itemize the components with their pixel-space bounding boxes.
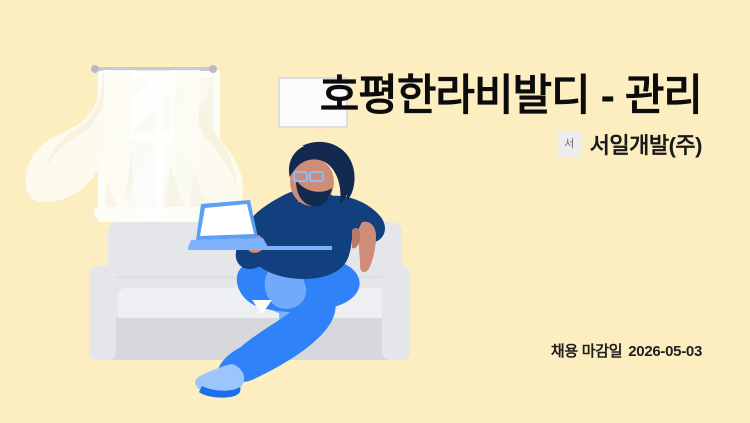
text-layer: 호평한라비발디 - 관리 서 서일개발(주) 채용 마감일2026-05-03 xyxy=(0,0,750,423)
company-badge-icon: 서 xyxy=(557,132,582,157)
job-posting-card: 호평한라비발디 - 관리 서 서일개발(주) 채용 마감일2026-05-03 xyxy=(0,0,750,423)
title-row: 호평한라비발디 - 관리 xyxy=(0,70,702,124)
page-title: 호평한라비발디 - 관리 xyxy=(320,70,702,124)
company-row: 서 서일개발(주) xyxy=(0,128,702,160)
deadline-row: 채용 마감일2026-05-03 xyxy=(0,340,702,361)
deadline-date: 2026-05-03 xyxy=(628,343,702,360)
company-name: 서일개발(주) xyxy=(590,128,702,160)
deadline-label: 채용 마감일 xyxy=(551,343,622,360)
